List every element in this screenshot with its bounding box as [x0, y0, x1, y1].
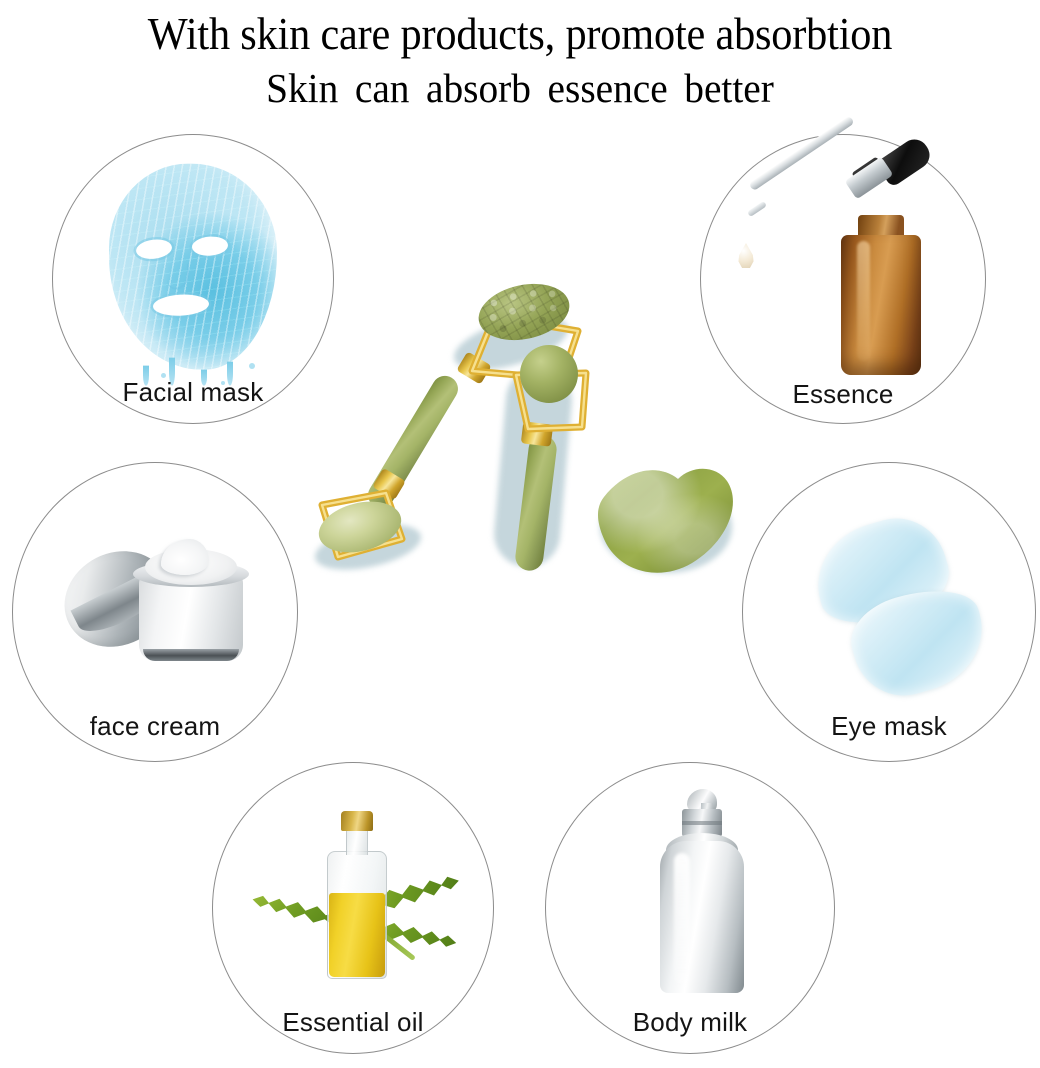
product-label-facial-mask: Facial mask [53, 377, 333, 408]
eye-patch-icon [785, 501, 999, 701]
product-label-body-milk: Body milk [546, 1007, 834, 1038]
mask-sheet-shape [109, 164, 277, 370]
product-circle-body-milk: Body milk [545, 762, 835, 1054]
oil-liquid [329, 893, 385, 977]
headline-line-2: Skin can absorb essence better [21, 64, 1019, 112]
product-circle-facial-mask: Facial mask [52, 134, 334, 424]
cream-jar-base [143, 649, 239, 661]
gua-sha-body [596, 463, 736, 585]
lotion-bottle-body [660, 841, 744, 993]
ball-roller-head [520, 345, 578, 403]
dropper-tip [747, 201, 767, 217]
jade-tool-group [300, 275, 770, 605]
product-label-face-cream: face cream [13, 711, 297, 742]
product-circle-eye-mask: Eye mask [742, 462, 1036, 762]
pump-collar-ring [682, 821, 722, 825]
dropper-glass-tube [748, 116, 854, 192]
product-circle-essential-oil: Essential oil [212, 762, 494, 1054]
essence-droplet [737, 243, 755, 269]
mask-texture [109, 164, 277, 370]
mask-splash-dot-3 [249, 363, 255, 369]
oil-bottle-icon [245, 785, 467, 985]
lotion-pump-icon [588, 777, 798, 997]
product-label-essential-oil: Essential oil [213, 1007, 493, 1038]
product-circle-face-cream: face cream [12, 462, 298, 762]
cream-swirl [161, 539, 209, 575]
product-label-eye-mask: Eye mask [743, 711, 1035, 742]
headline-line-1: With skin care products, promote absorbt… [31, 8, 1009, 60]
essence-bottle-highlight [857, 241, 870, 361]
infographic-canvas: With skin care products, promote absorbt… [0, 0, 1040, 1068]
cream-jar-icon [51, 491, 267, 691]
oil-bottle-cap [341, 811, 373, 831]
bottle-highlight [674, 853, 690, 985]
essence-amber-bottle [841, 235, 921, 375]
oil-bottle-neck [346, 827, 368, 855]
